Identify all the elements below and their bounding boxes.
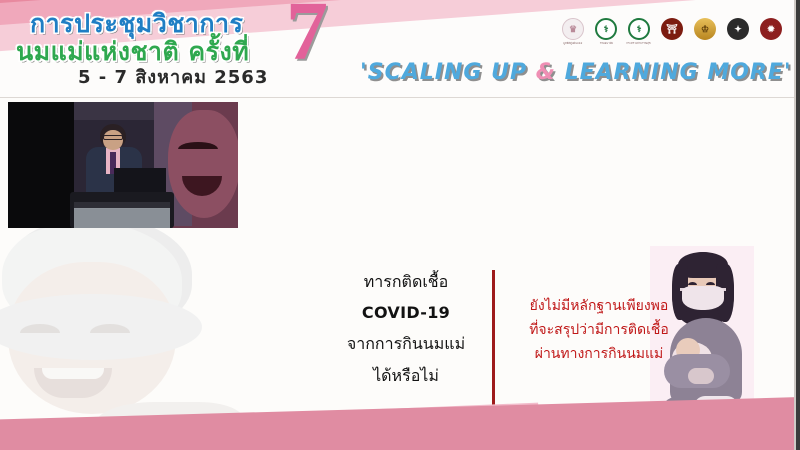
tagline-suffix: LEARNING MORE': [556, 60, 792, 85]
baby-photo-watermark: [0, 216, 240, 431]
answer-line-1: ยังไม่มีหลักฐานเพียงพอ: [503, 294, 695, 318]
question-line-2: COVID-19: [330, 297, 482, 328]
video-baby-eye: [178, 142, 218, 149]
video-baby-face: [168, 110, 238, 218]
logo-ministry-health-2-caption: กระทรวงสาธารณสุข: [627, 41, 651, 46]
answer-text-block: ยังไม่มีหลักฐานเพียงพอ ที่จะสรุปว่ามีการ…: [503, 294, 695, 366]
sponsor-logo-row: ♛ มูลนิธิศูนย์นมแม่ ⚕ กรมอนามัย ⚕ กระทรว…: [560, 18, 796, 48]
question-line-1: ทารกติดเชื้อ: [330, 266, 482, 297]
illustration-eye-left: [688, 282, 697, 285]
logo-royal-emblem-caption: มูลนิธิศูนย์นมแม่: [563, 41, 582, 46]
logo-black-emblem-icon: ✦: [727, 18, 749, 40]
viewer-right-border: [796, 0, 800, 450]
video-laptop: [114, 168, 166, 194]
video-wall-left: [8, 102, 74, 228]
question-line-4: ได้หรือไม่: [330, 360, 482, 391]
conference-date: 5 - 7 สิงหาคม 2563: [78, 62, 268, 91]
logo-thai-red-cross-icon: ⛩: [661, 18, 683, 40]
video-podium-glass: [74, 208, 170, 228]
logo-red-emblem: ✹: [758, 18, 784, 48]
edition-number: 7: [286, 0, 328, 74]
slide-body: ทารกติดเชื้อ COVID-19 จากการกินนมแม่ ได้…: [0, 98, 796, 450]
vertical-divider: [492, 270, 495, 414]
question-text-block: ทารกติดเชื้อ COVID-19 จากการกินนมแม่ ได้…: [330, 266, 482, 391]
header-separator: [0, 97, 796, 98]
video-speaker-face: [103, 130, 123, 150]
speaker-video-thumbnail[interactable]: [8, 102, 238, 228]
logo-garuda: ♔: [692, 18, 718, 48]
answer-line-2: ที่จะสรุปว่ามีการติดเชื้อ: [503, 318, 695, 342]
illustration-eye-right: [706, 282, 715, 285]
logo-red-emblem-icon: ✹: [760, 18, 782, 40]
logo-ministry-health-1: ⚕ กรมอนามัย: [593, 18, 619, 48]
logo-ministry-health-2: ⚕ กระทรวงสาธารณสุข: [626, 18, 652, 48]
logo-garuda-icon: ♔: [694, 18, 716, 40]
logo-ministry-health-1-caption: กรมอนามัย: [599, 41, 612, 46]
logo-ministry-health-1-icon: ⚕: [595, 18, 617, 40]
tagline-ampersand: &: [536, 60, 556, 85]
presentation-slide: การประชุมวิชาการ นมแม่แห่งชาติ ครั้งที่ …: [0, 0, 800, 450]
illustration-mother-hand: [688, 368, 714, 384]
watermark-teeth: [42, 368, 104, 379]
answer-line-3: ผ่านทางการกินนมแม่: [503, 342, 695, 366]
video-wall-top: [74, 102, 160, 120]
logo-royal-emblem-icon: ♛: [562, 18, 584, 40]
glasses-icon: [103, 135, 123, 140]
logo-thai-red-cross: ⛩: [659, 18, 685, 48]
tagline-prefix: 'SCALING UP: [360, 60, 536, 85]
logo-royal-emblem: ♛ มูลนิธิศูนย์นมแม่: [560, 18, 586, 48]
conference-tagline: 'SCALING UP & LEARNING MORE': [360, 60, 792, 85]
question-line-3: จากการกินนมแม่: [330, 328, 482, 359]
logo-black-emblem: ✦: [725, 18, 751, 48]
logo-ministry-health-2-icon: ⚕: [628, 18, 650, 40]
conference-header: การประชุมวิชาการ นมแม่แห่งชาติ ครั้งที่ …: [0, 0, 796, 98]
